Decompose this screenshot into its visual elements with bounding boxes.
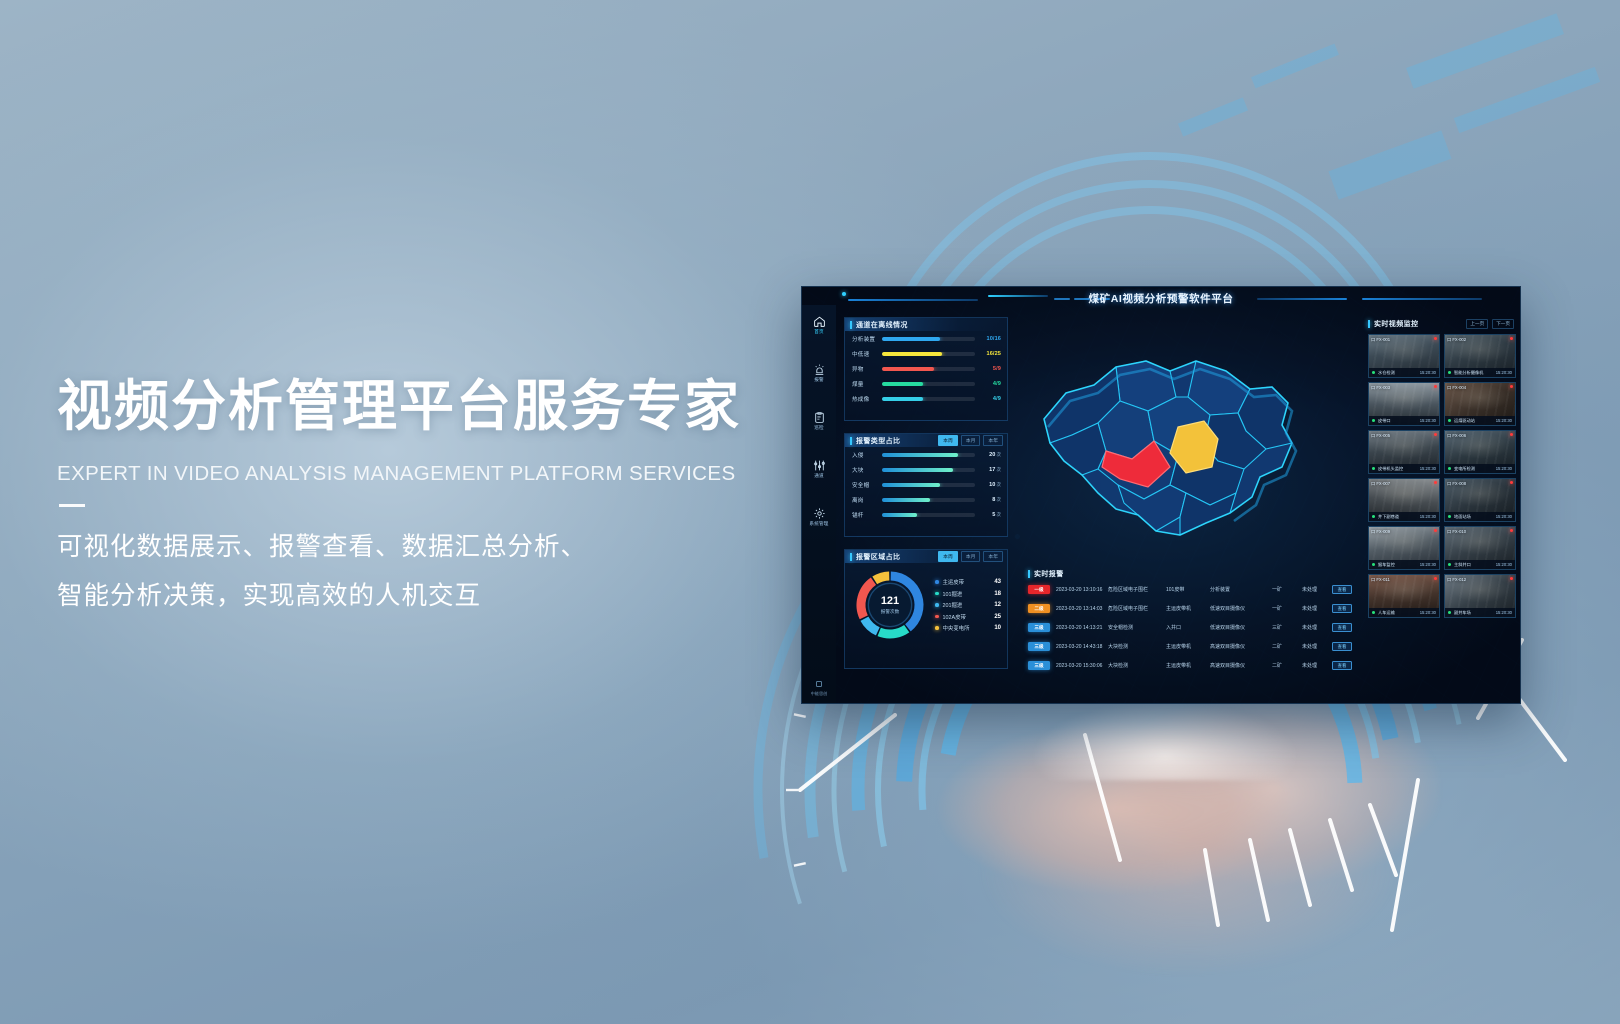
channel-status-header: 通道在离线情况 xyxy=(845,318,1007,331)
divider-rule xyxy=(59,504,85,507)
video-tile-time: 15:20:30 xyxy=(1420,610,1436,615)
video-tile[interactable]: 口 FX-008地面站场15:20:30 xyxy=(1444,478,1516,522)
status-badge: 三级 xyxy=(1028,661,1050,670)
video-tile[interactable]: 口 FX-004运煤驱动站15:20:30 xyxy=(1444,382,1516,426)
sidebar-item-inspection[interactable]: 巡检 xyxy=(802,411,836,449)
alarm-type-track xyxy=(882,468,975,472)
video-tile-name: 皮带口 xyxy=(1378,418,1420,424)
alarm-type-row: 离岗8次 xyxy=(845,492,1007,507)
channel-status-row: 热成像4/9 xyxy=(845,391,1007,406)
record-indicator-icon xyxy=(1510,385,1513,388)
video-tile-footer: 水仓检测15:20:30 xyxy=(1369,368,1439,377)
channel-row-value: 10/16 xyxy=(975,336,1001,342)
alarm-time: 2023-03-20 13:10:16 xyxy=(1056,587,1108,593)
channel-status-rows: 分析装置10/16中低速16/25异物5/9煤量4/9热成像4/9 xyxy=(845,331,1007,406)
donut-center: 121 报警次数 xyxy=(868,583,912,627)
table-row[interactable]: 一级2023-03-20 13:10:16危险区域电子围栏101皮带分析装置一矿… xyxy=(1028,580,1358,599)
alarm-type-unit: 次 xyxy=(997,512,1002,517)
alarm-location: 主运皮带机 xyxy=(1166,662,1210,669)
channel-row-label: 煤量 xyxy=(852,380,882,388)
alarm-type-panel: 报警类型占比 本周本月本年 入侵20次大块17次安全帽10次离岗8次锚杆5次 xyxy=(844,433,1008,537)
alarm-event: 危险区域电子围栏 xyxy=(1108,586,1166,593)
alarm-area-panel: 报警区域占比 本周本月本年 121 报警次数 主运皮带43101掘进18201掘… xyxy=(844,549,1008,669)
record-indicator-icon xyxy=(1510,529,1513,532)
alarm-type-track xyxy=(882,498,975,502)
alarm-type-title: 报警类型占比 xyxy=(856,436,900,446)
alarm-type-fill xyxy=(882,468,953,472)
video-tile-name: 地面站场 xyxy=(1454,514,1496,520)
legend-label: 主运皮带 xyxy=(943,578,995,586)
alarm-time: 2023-03-20 14:43:18 xyxy=(1056,644,1108,650)
home-icon xyxy=(813,315,826,328)
status-badge: 一级 xyxy=(1028,585,1050,594)
video-tile-time: 15:20:30 xyxy=(1420,466,1436,471)
channel-row-label: 分析装置 xyxy=(852,335,882,343)
alarm-view-button[interactable]: 查看 xyxy=(1332,642,1352,651)
video-tile-name: 水仓检测 xyxy=(1378,370,1420,376)
alarm-device: 分析装置 xyxy=(1210,586,1272,593)
alarm-view-button[interactable]: 查看 xyxy=(1332,604,1352,613)
video-tile-name: 运煤驱动站 xyxy=(1454,418,1496,424)
dashboard-monitor: 煤矿AI视频分析预警软件平台 首页 报警 巡检 通道 xyxy=(801,286,1521,704)
video-tile-code: 口 FX-011 xyxy=(1371,577,1390,583)
realtime-alarm-header: 实时报警 xyxy=(1028,567,1358,580)
alarm-status: 未处理 xyxy=(1302,643,1332,650)
alarm-type-unit: 次 xyxy=(997,452,1002,457)
alarm-type-tab-本年[interactable]: 本年 xyxy=(983,435,1003,446)
channel-row-fill xyxy=(882,337,940,341)
record-indicator-icon xyxy=(1510,481,1513,484)
video-panel-title: 实时视频监控 xyxy=(1374,319,1418,329)
sidebar-label-channel: 通道 xyxy=(802,473,836,479)
video-tile-time: 15:20:30 xyxy=(1496,562,1512,567)
alarm-type-label: 离岗 xyxy=(852,496,882,504)
video-tile-code: 口 FX-005 xyxy=(1371,433,1390,439)
page-title: 视频分析管理平台服务专家 xyxy=(57,376,817,438)
alarm-time: 2023-03-20 15:30:06 xyxy=(1056,663,1108,669)
alarm-device: 高速双目摄像仪 xyxy=(1210,643,1272,650)
record-indicator-icon xyxy=(1434,385,1437,388)
channel-row-fill xyxy=(882,367,934,371)
channel-row-track xyxy=(882,382,975,386)
video-tile[interactable]: 口 FX-009猴车监控15:20:30 xyxy=(1368,526,1440,570)
channel-row-value: 5/9 xyxy=(975,366,1001,372)
video-tile-code: 口 FX-002 xyxy=(1447,337,1466,343)
video-tile[interactable]: 口 FX-003皮带口15:20:30 xyxy=(1368,382,1440,426)
video-tile-footer: 人车运输15:20:30 xyxy=(1369,608,1439,617)
video-tile[interactable]: 口 FX-002智能分析摄像机15:20:30 xyxy=(1444,334,1516,378)
legend-label: 201掘进 xyxy=(943,601,995,609)
china-map[interactable] xyxy=(1020,327,1320,577)
video-tile-footer: 副井车场15:20:30 xyxy=(1445,608,1515,617)
realtime-alarm-panel: 实时报警 一级2023-03-20 13:10:16危险区域电子围栏101皮带分… xyxy=(1028,567,1358,695)
accent-bar xyxy=(850,321,852,329)
channel-row-track xyxy=(882,397,975,401)
online-status-dot xyxy=(1372,467,1375,470)
video-tile-name: 皮带机头监控 xyxy=(1378,466,1420,472)
alarm-event: 危险区域电子围栏 xyxy=(1108,605,1166,612)
video-tile-name: 副井车场 xyxy=(1454,610,1496,616)
alarm-light-icon xyxy=(813,363,826,376)
online-status-dot xyxy=(1448,611,1451,614)
donut-slice[interactable] xyxy=(875,576,890,580)
table-row[interactable]: 三级2023-03-20 14:13:21安全帽检测入井口低速双目摄像仪三矿未处… xyxy=(1028,618,1358,637)
alarm-mine: 二矿 xyxy=(1272,662,1302,669)
video-tile[interactable]: 口 FX-005皮带机头监控15:20:30 xyxy=(1368,430,1440,474)
online-status-dot xyxy=(1448,467,1451,470)
sidebar-item-channel[interactable]: 通道 xyxy=(802,459,836,497)
legend-value: 18 xyxy=(994,591,1001,597)
alarm-type-unit: 次 xyxy=(997,482,1002,487)
channel-row-label: 热成像 xyxy=(852,395,882,403)
alarm-type-label: 安全帽 xyxy=(852,481,882,489)
alarm-location: 入井口 xyxy=(1166,624,1210,631)
channel-row-fill xyxy=(882,397,923,401)
alarm-time: 2023-03-20 14:13:21 xyxy=(1056,625,1108,631)
record-indicator-icon xyxy=(1434,481,1437,484)
video-tile-time: 15:20:30 xyxy=(1420,562,1436,567)
alarm-type-label: 入侵 xyxy=(852,451,882,459)
legend-value: 12 xyxy=(994,602,1001,608)
alarm-type-row: 锚杆5次 xyxy=(845,507,1007,522)
channel-status-row: 分析装置10/16 xyxy=(845,331,1007,346)
alarm-type-header: 报警类型占比 本周本月本年 xyxy=(845,434,1007,447)
video-tile-time: 15:20:30 xyxy=(1496,370,1512,375)
record-indicator-icon xyxy=(1510,577,1513,580)
video-tile-time: 15:20:30 xyxy=(1420,514,1436,519)
accent-bar xyxy=(1028,570,1030,578)
sidebar-label-system: 系统管理 xyxy=(802,521,836,527)
video-tile-code: 口 FX-010 xyxy=(1447,529,1466,535)
alarm-location: 主运皮带机 xyxy=(1166,605,1210,612)
legend-value: 10 xyxy=(994,625,1001,631)
online-status-dot xyxy=(1372,515,1375,518)
video-tile[interactable]: 口 FX-011人车运输15:20:30 xyxy=(1368,574,1440,618)
video-pagination[interactable]: 上一页 下一页 xyxy=(1466,319,1516,329)
video-tile-footer: 变电所检测15:20:30 xyxy=(1445,464,1515,473)
alarm-area-tab-本周[interactable]: 本周 xyxy=(938,551,958,562)
sidebar-item-alarm[interactable]: 报警 xyxy=(802,363,836,401)
status-badge: 二级 xyxy=(1028,604,1050,613)
alarm-area-tab-本月[interactable]: 本月 xyxy=(961,551,981,562)
legend-label: 102A皮带 xyxy=(943,613,995,621)
channel-row-fill xyxy=(882,352,942,356)
channel-row-label: 异物 xyxy=(852,365,882,373)
alarm-type-row: 入侵20次 xyxy=(845,447,1007,462)
alarm-mine: 二矿 xyxy=(1272,643,1302,650)
alarm-event: 安全帽检测 xyxy=(1108,624,1166,631)
video-tile-code: 口 FX-003 xyxy=(1371,385,1390,391)
video-tile-footer: 运煤驱动站15:20:30 xyxy=(1445,416,1515,425)
alarm-view-button[interactable]: 查看 xyxy=(1332,623,1352,632)
realtime-alarm-rows: 一级2023-03-20 13:10:16危险区域电子围栏101皮带分析装置一矿… xyxy=(1028,580,1358,675)
video-tile-time: 15:20:30 xyxy=(1420,418,1436,423)
channel-status-title: 通道在离线情况 xyxy=(856,320,908,330)
legend-label: 中央变电所 xyxy=(943,624,995,632)
video-tile-code: 口 FX-004 xyxy=(1447,385,1466,391)
dashboard-topbar: 煤矿AI视频分析预警软件平台 xyxy=(802,287,1520,313)
donut-legend: 主运皮带43101掘进18201掘进12102A皮带25中央变电所10 xyxy=(935,576,1001,634)
video-tile-code: 口 FX-007 xyxy=(1371,481,1390,487)
channel-row-track xyxy=(882,337,975,341)
clipboard-check-icon xyxy=(813,411,826,424)
alarm-type-track xyxy=(882,483,975,487)
alarm-view-button[interactable]: 查看 xyxy=(1332,661,1352,670)
alarm-type-label: 锚杆 xyxy=(852,511,882,519)
legend-color-dot xyxy=(935,626,939,630)
hero-copy: 视频分析管理平台服务专家 EXPERT IN VIDEO ANALYSIS MA… xyxy=(57,376,817,622)
alarm-device: 高速双目摄像仪 xyxy=(1210,662,1272,669)
accent-bar xyxy=(850,553,852,561)
table-row[interactable]: 二级2023-03-20 13:14:03危险区域电子围栏主运皮带机低速双目摄像… xyxy=(1028,599,1358,618)
status-badge: 三级 xyxy=(1028,623,1050,632)
status-badge: 三级 xyxy=(1028,642,1050,651)
alarm-type-row: 大块17次 xyxy=(845,462,1007,477)
alarm-event: 大块检测 xyxy=(1108,662,1166,669)
donut-caption: 报警次数 xyxy=(881,609,899,615)
alarm-type-fill xyxy=(882,498,930,502)
sidebar-brand-label: 中能思创 xyxy=(802,691,836,697)
alarm-view-button[interactable]: 查看 xyxy=(1332,585,1352,594)
accent-bar xyxy=(1368,320,1370,328)
video-tile-code: 口 FX-008 xyxy=(1447,481,1466,487)
channel-sliders-icon xyxy=(813,459,826,472)
hero-desc-line-1: 可视化数据展示、报警查看、数据汇总分析、 xyxy=(57,523,817,573)
video-tile-time: 15:20:30 xyxy=(1420,370,1436,375)
video-panel-header: 实时视频监控 上一页 下一页 xyxy=(1368,317,1516,330)
brand-mark-icon xyxy=(815,680,823,688)
record-indicator-icon xyxy=(1434,577,1437,580)
alarm-device: 低速双目摄像仪 xyxy=(1210,605,1272,612)
video-tile-footer: 智能分析摄像机15:20:30 xyxy=(1445,368,1515,377)
channel-status-panel: 通道在离线情况 分析装置10/16中低速16/25异物5/9煤量4/9热成像4/… xyxy=(844,317,1008,421)
video-tile[interactable]: 口 FX-007井下副巷道15:20:30 xyxy=(1368,478,1440,522)
table-row[interactable]: 三级2023-03-20 14:43:18大块检测主运皮带机高速双目摄像仪二矿未… xyxy=(1028,637,1358,656)
record-indicator-icon xyxy=(1434,529,1437,532)
alarm-status: 未处理 xyxy=(1302,662,1332,669)
alarm-type-tabs[interactable]: 本周本月本年 xyxy=(938,435,1007,446)
alarm-type-track xyxy=(882,513,975,517)
alarm-area-header: 报警区域占比 本周本月本年 xyxy=(845,550,1007,563)
sidebar-item-system[interactable]: 系统管理 xyxy=(802,507,836,545)
alarm-status: 未处理 xyxy=(1302,624,1332,631)
video-tile-footer: 皮带口15:20:30 xyxy=(1369,416,1439,425)
realtime-alarm-title: 实时报警 xyxy=(1034,569,1064,579)
video-tile[interactable]: 口 FX-010主斜井口15:20:30 xyxy=(1444,526,1516,570)
china-map-svg xyxy=(1020,327,1320,577)
video-tile-time: 15:20:30 xyxy=(1496,466,1512,471)
hero-subtitle: EXPERT IN VIDEO ANALYSIS MANAGEMENT PLAT… xyxy=(57,462,817,486)
alarm-time: 2023-03-20 13:14:03 xyxy=(1056,606,1108,612)
video-tile-time: 15:20:30 xyxy=(1496,610,1512,615)
legend-value: 43 xyxy=(994,579,1001,585)
alarm-mine: 三矿 xyxy=(1272,624,1302,631)
video-tile-name: 人车运输 xyxy=(1378,610,1420,616)
legend-color-dot xyxy=(935,592,939,596)
donut-legend-row: 102A皮带25 xyxy=(935,611,1001,623)
alarm-device: 低速双目摄像仪 xyxy=(1210,624,1272,631)
legend-label: 101掘进 xyxy=(943,590,995,598)
video-tile-footer: 井下副巷道15:20:30 xyxy=(1369,512,1439,521)
channel-row-value: 4/9 xyxy=(975,396,1001,402)
video-tile-footer: 主斜井口15:20:30 xyxy=(1445,560,1515,569)
dashboard-sidebar: 首页 报警 巡检 通道 系统管理 xyxy=(802,305,836,703)
accent-bar xyxy=(850,437,852,445)
video-tile-footer: 皮带机头监控15:20:30 xyxy=(1369,464,1439,473)
video-tile-time: 15:20:30 xyxy=(1496,514,1512,519)
legend-value: 25 xyxy=(994,614,1001,620)
channel-row-value: 4/9 xyxy=(975,381,1001,387)
video-tile-name: 井下副巷道 xyxy=(1378,514,1420,520)
alarm-type-tab-本月[interactable]: 本月 xyxy=(961,435,981,446)
online-status-dot xyxy=(1372,611,1375,614)
channel-row-track xyxy=(882,352,975,356)
video-tile-name: 猴车监控 xyxy=(1378,562,1420,568)
alarm-area-donut[interactable]: 121 报警次数 xyxy=(853,568,927,642)
video-tile-code: 口 FX-012 xyxy=(1447,577,1466,583)
legend-color-dot xyxy=(935,615,939,619)
legend-color-dot xyxy=(935,603,939,607)
video-tile-name: 主斜井口 xyxy=(1454,562,1496,568)
hero-desc-line-2: 智能分析决策，实现高效的人机交互 xyxy=(57,572,817,622)
video-monitor-panel: 实时视频监控 上一页 下一页 口 FX-001水仓检测15:20:30口 FX-… xyxy=(1368,317,1516,693)
alarm-area-tabs[interactable]: 本周本月本年 xyxy=(938,551,1007,562)
alarm-type-value: 10次 xyxy=(975,482,1001,488)
alarm-location: 主运皮带机 xyxy=(1166,643,1210,650)
alarm-status: 未处理 xyxy=(1302,605,1332,612)
video-tile-code: 口 FX-001 xyxy=(1371,337,1390,343)
alarm-area-tab-本年[interactable]: 本年 xyxy=(983,551,1003,562)
alarm-type-fill xyxy=(882,483,940,487)
donut-legend-row: 主运皮带43 xyxy=(935,576,1001,588)
video-tile-name: 智能分析摄像机 xyxy=(1454,370,1496,376)
video-tile-footer: 猴车监控15:20:30 xyxy=(1369,560,1439,569)
alarm-type-label: 大块 xyxy=(852,466,882,474)
donut-legend-row: 101掘进18 xyxy=(935,588,1001,600)
video-tile[interactable]: 口 FX-006变电所检测15:20:30 xyxy=(1444,430,1516,474)
alarm-type-row: 安全帽10次 xyxy=(845,477,1007,492)
video-prev-page-button[interactable]: 上一页 xyxy=(1466,319,1488,329)
video-tile-code: 口 FX-006 xyxy=(1447,433,1466,439)
online-status-dot xyxy=(1448,371,1451,374)
alarm-status: 未处理 xyxy=(1302,586,1332,593)
alarm-type-unit: 次 xyxy=(997,467,1002,472)
alarm-area-title: 报警区域占比 xyxy=(856,552,900,562)
sidebar-label-alarm: 报警 xyxy=(802,377,836,383)
video-next-page-button[interactable]: 下一页 xyxy=(1492,319,1514,329)
online-status-dot xyxy=(1372,371,1375,374)
alarm-type-tab-本周[interactable]: 本周 xyxy=(938,435,958,446)
online-status-dot xyxy=(1448,515,1451,518)
alarm-type-value: 17次 xyxy=(975,467,1001,473)
video-tile-time: 15:20:30 xyxy=(1496,418,1512,423)
video-tile-code: 口 FX-009 xyxy=(1371,529,1390,535)
legend-color-dot xyxy=(935,580,939,584)
alarm-type-value: 8次 xyxy=(975,497,1001,503)
online-status-dot xyxy=(1372,563,1375,566)
video-grid: 口 FX-001水仓检测15:20:30口 FX-002智能分析摄像机15:20… xyxy=(1368,334,1516,618)
alarm-type-fill xyxy=(882,453,958,457)
video-tile-footer: 地面站场15:20:30 xyxy=(1445,512,1515,521)
gear-icon xyxy=(813,507,826,520)
alarm-type-fill xyxy=(882,513,917,517)
sidebar-label-home: 首页 xyxy=(802,329,836,335)
dashboard-title: 煤矿AI视频分析预警软件平台 xyxy=(802,291,1520,306)
record-indicator-icon xyxy=(1510,337,1513,340)
donut-slice[interactable] xyxy=(879,629,906,634)
record-indicator-icon xyxy=(1434,433,1437,436)
donut-legend-row: 中央变电所10 xyxy=(935,622,1001,634)
alarm-mine: 一矿 xyxy=(1272,605,1302,612)
alarm-type-value: 20次 xyxy=(975,452,1001,458)
online-status-dot xyxy=(1372,419,1375,422)
video-tile-name: 变电所检测 xyxy=(1454,466,1496,472)
alarm-location: 101皮带 xyxy=(1166,586,1210,593)
channel-status-row: 中低速16/25 xyxy=(845,346,1007,361)
alarm-type-unit: 次 xyxy=(997,497,1002,502)
alarm-event: 大块检测 xyxy=(1108,643,1166,650)
donut-legend-row: 201掘进12 xyxy=(935,599,1001,611)
online-status-dot xyxy=(1448,419,1451,422)
alarm-type-track xyxy=(882,453,975,457)
video-tile[interactable]: 口 FX-001水仓检测15:20:30 xyxy=(1368,334,1440,378)
alarm-mine: 一矿 xyxy=(1272,586,1302,593)
sidebar-brand: 中能思创 xyxy=(802,680,836,697)
donut-total: 121 xyxy=(881,596,899,607)
sidebar-item-home[interactable]: 首页 xyxy=(802,315,836,353)
sidebar-label-inspection: 巡检 xyxy=(802,425,836,431)
alarm-type-value: 5次 xyxy=(975,512,1001,518)
channel-row-fill xyxy=(882,382,923,386)
alarm-type-rows: 入侵20次大块17次安全帽10次离岗8次锚杆5次 xyxy=(845,447,1007,522)
channel-row-label: 中低速 xyxy=(852,350,882,358)
channel-row-track xyxy=(882,367,975,371)
record-indicator-icon xyxy=(1510,433,1513,436)
video-tile[interactable]: 口 FX-012副井车场15:20:30 xyxy=(1444,574,1516,618)
record-indicator-icon xyxy=(1434,337,1437,340)
channel-row-value: 16/25 xyxy=(975,351,1001,357)
table-row[interactable]: 三级2023-03-20 15:30:06大块检测主运皮带机高速双目摄像仪二矿未… xyxy=(1028,656,1358,675)
channel-status-row: 煤量4/9 xyxy=(845,376,1007,391)
channel-status-row: 异物5/9 xyxy=(845,361,1007,376)
online-status-dot xyxy=(1448,563,1451,566)
